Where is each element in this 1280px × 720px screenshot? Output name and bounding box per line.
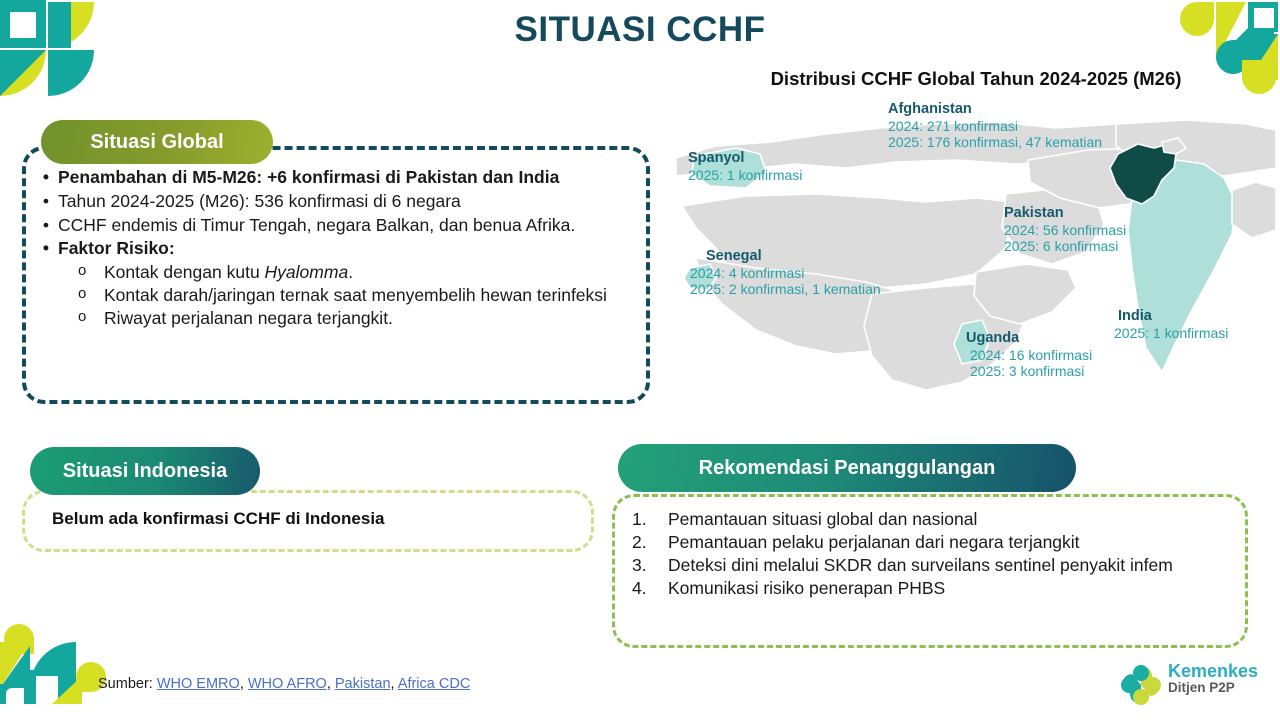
sub-list-item-text: Riwayat perjalanan negara terjangkit. — [104, 307, 634, 330]
list-item: • Penambahan di M5-M26: +6 konfirmasi di… — [34, 166, 634, 189]
list-item: 3. Deteksi dini melalui SKDR dan surveil… — [624, 554, 1234, 577]
sub-list-item-text: Kontak darah/jaringan ternak saat menyem… — [104, 284, 634, 307]
page-title: SITUASI CCHF — [0, 10, 1280, 50]
source-line: Sumber: WHO EMRO, WHO AFRO, Pakistan, Af… — [98, 676, 470, 692]
badge-situasi-indonesia: Situasi Indonesia — [30, 447, 260, 495]
badge-label: Situasi Indonesia — [63, 460, 227, 483]
bullet-icon: • — [34, 166, 58, 189]
list-item-text: Tahun 2024-2025 (M26): 536 konfirmasi di… — [58, 190, 634, 213]
list-number: 2. — [624, 531, 668, 554]
slide-root: SITUASI CCHF Distribusi CCHF Global Tahu… — [0, 0, 1280, 720]
logo-title: Kemenkes — [1168, 662, 1258, 681]
list-number: 1. — [624, 508, 668, 531]
link-africa-cdc[interactable]: Africa CDC — [398, 676, 471, 692]
global-bullet-list: • Penambahan di M5-M26: +6 konfirmasi di… — [34, 166, 634, 329]
list-item-text: Faktor Risiko: — [58, 237, 634, 260]
kemenkes-logo-icon — [1118, 662, 1164, 708]
link-who-afro[interactable]: WHO AFRO — [248, 676, 327, 692]
badge-situasi-global: Situasi Global — [41, 120, 273, 164]
separator: , — [327, 676, 335, 692]
separator: , — [391, 676, 398, 692]
logo-subtitle: Ditjen P2P — [1168, 681, 1258, 696]
list-item-text: Komunikasi risiko penerapan PHBS — [668, 577, 1234, 600]
list-item-text: Penambahan di M5-M26: +6 konfirmasi di P… — [58, 166, 634, 189]
map-label-senegal: Senegal 2024: 4 konfirmasi 2025: 2 konfi… — [706, 248, 881, 297]
list-number: 4. — [624, 577, 668, 600]
map-label-spanyol: Spanyol 2025: 1 konfirmasi — [688, 150, 802, 183]
source-label: Sumber: — [98, 676, 153, 692]
sub-bullet-icon: o — [78, 307, 104, 330]
badge-label: Rekomendasi Penanggulangan — [699, 457, 996, 480]
list-number: 3. — [624, 554, 668, 577]
list-item: • Tahun 2024-2025 (M26): 536 konfirmasi … — [34, 190, 634, 213]
list-item-text: Deteksi dini melalui SKDR dan surveilans… — [668, 554, 1234, 577]
sub-bullet-icon: o — [78, 261, 104, 284]
list-item: 2. Pemantauan pelaku perjalanan dari neg… — [624, 531, 1234, 554]
kemenkes-logo: Kemenkes Ditjen P2P — [1118, 660, 1278, 710]
link-who-emro[interactable]: WHO EMRO — [157, 676, 240, 692]
list-item: 1. Pemantauan situasi global dan nasiona… — [624, 508, 1234, 531]
deco-shape — [6, 688, 24, 704]
bullet-icon: • — [34, 190, 58, 213]
map-land-horn — [974, 264, 1076, 324]
sub-list-item: o Riwayat perjalanan negara terjangkit. — [78, 307, 634, 330]
badge-rekomendasi: Rekomendasi Penanggulangan — [618, 444, 1076, 492]
map-land-se-asia — [1232, 182, 1276, 238]
list-item-text: CCHF endemis di Timur Tengah, negara Bal… — [58, 214, 634, 237]
corner-decoration-bottom-left — [0, 624, 100, 720]
list-item: • Faktor Risiko: — [34, 237, 634, 260]
separator: , — [240, 676, 248, 692]
link-pakistan[interactable]: Pakistan — [335, 676, 391, 692]
map-label-uganda: Uganda 2024: 16 konfirmasi 2025: 3 konfi… — [966, 330, 1092, 379]
map-label-afghanistan: Afghanistan 2024: 271 konfirmasi 2025: 1… — [888, 101, 1102, 150]
indonesia-status-text: Belum ada konfirmasi CCHF di Indonesia — [52, 509, 385, 529]
map-label-pakistan: Pakistan 2024: 56 konfirmasi 2025: 6 kon… — [1004, 205, 1126, 254]
list-item-text: Pemantauan situasi global dan nasional — [668, 508, 1234, 531]
kemenkes-logo-text: Kemenkes Ditjen P2P — [1168, 662, 1258, 696]
list-item: • CCHF endemis di Timur Tengah, negara B… — [34, 214, 634, 237]
map-label-india: India 2025: 1 konfirmasi — [1118, 308, 1228, 341]
list-item: 4. Komunikasi risiko penerapan PHBS — [624, 577, 1234, 600]
sub-list-item: o Kontak dengan kutu Hyalomma. — [78, 261, 634, 284]
sub-list-item-text: Kontak dengan kutu Hyalomma. — [104, 261, 634, 284]
map-title: Distribusi CCHF Global Tahun 2024-2025 (… — [676, 68, 1276, 90]
bullet-icon: • — [34, 214, 58, 237]
deco-shape — [36, 676, 58, 704]
species-name: Hyalomma — [265, 262, 349, 282]
badge-label: Situasi Global — [90, 131, 223, 154]
recommendation-list: 1. Pemantauan situasi global dan nasiona… — [624, 508, 1234, 600]
deco-shape — [48, 50, 94, 96]
sub-bullet-icon: o — [78, 284, 104, 307]
sub-list-item: o Kontak darah/jaringan ternak saat meny… — [78, 284, 634, 307]
bullet-icon: • — [34, 237, 58, 260]
sub-text-after: . — [348, 262, 353, 282]
list-item-text: Pemantauan pelaku perjalanan dari negara… — [668, 531, 1234, 554]
sub-text-before: Kontak dengan kutu — [104, 262, 265, 282]
